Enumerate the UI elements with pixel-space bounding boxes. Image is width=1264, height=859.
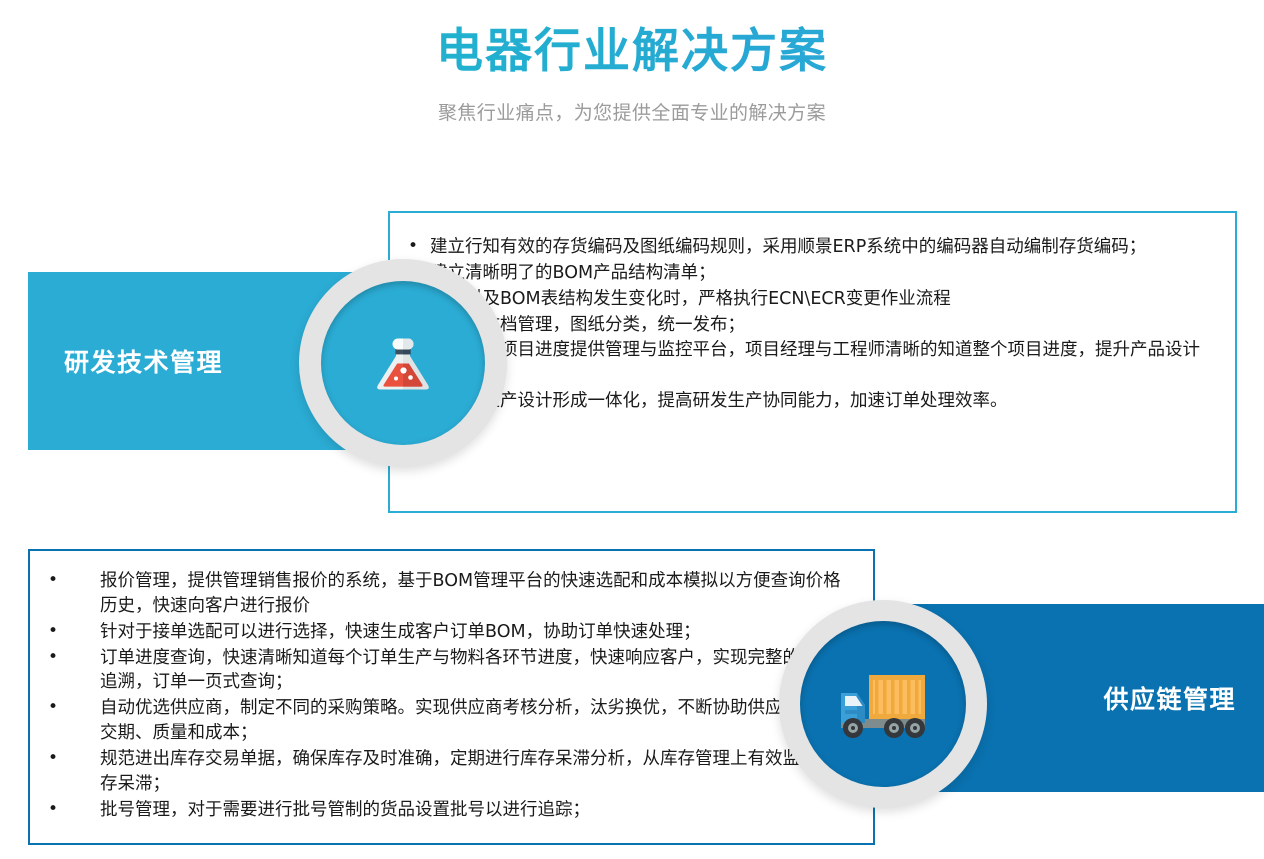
list-item: 研发与生产设计形成一体化，提高研发生产协同能力，加速订单处理效率。 [390, 389, 1215, 414]
list-item: 批号管理，对于需要进行批号管制的货品设置批号以进行追踪； [30, 798, 849, 823]
list-item: 建立行知有效的存货编码及图纸编码规则，采用顺景ERP系统中的编码器自动编制存货编… [390, 235, 1215, 260]
list-item: 规范进出库存交易单据，确保库存及时准确，定期进行库存呆滞分析，从库存管理上有效监… [30, 747, 849, 797]
list-item: 自动优选供应商，制定不同的采购策略。实现供应商考核分析，汰劣换优，不断协助供应商… [30, 696, 849, 746]
sc-bullet-list: 报价管理，提供管理销售报价的系统，基于BOM管理平台的快速选配和成本模拟以方便查… [30, 569, 849, 822]
rd-medallion [299, 259, 507, 467]
sc-medallion [779, 600, 987, 808]
rd-text-box: 建立行知有效的存货编码及图纸编码规则，采用顺景ERP系统中的编码器自动编制存货编… [388, 211, 1237, 513]
page-title: 电器行业解决方案 [0, 0, 1264, 82]
sc-label-text: 供应链管理 [1103, 680, 1236, 716]
sc-medallion-inner [800, 621, 966, 787]
list-item: 针对于接单选配可以进行选择，快速生成客户订单BOM，协助订单快速处理； [30, 620, 849, 645]
list-item: 针对研发项目进度提供管理与监控平台，项目经理与工程师清晰的知道整个项目进度，提升… [390, 338, 1215, 388]
list-item: 订单进度查询，快速清晰知道每个订单生产与物料各环节进度，快速响应客户，实现完整的… [30, 646, 849, 696]
list-item: 提供图文档管理，图纸分类，统一发布； [390, 313, 1215, 338]
page-subtitle: 聚焦行业痛点，为您提供全面专业的解决方案 [0, 82, 1264, 125]
list-item: 报价管理，提供管理销售报价的系统，基于BOM管理平台的快速选配和成本模拟以方便查… [30, 569, 849, 619]
flask-icon [363, 323, 443, 403]
page-header: 电器行业解决方案 聚焦行业痛点，为您提供全面专业的解决方案 [0, 0, 1264, 125]
rd-label-text: 研发技术管理 [64, 343, 223, 379]
truck-icon [831, 665, 935, 743]
list-item: 建立清晰明了的BOM产品结构清单； [390, 261, 1215, 286]
sc-text-box: 报价管理，提供管理销售报价的系统，基于BOM管理平台的快速选配和成本模拟以方便查… [28, 549, 875, 845]
list-item: 当物料及BOM表结构发生变化时，严格执行ECN\ECR变更作业流程 [390, 287, 1215, 312]
rd-bullet-list: 建立行知有效的存货编码及图纸编码规则，采用顺景ERP系统中的编码器自动编制存货编… [390, 235, 1215, 414]
rd-medallion-inner [321, 281, 485, 445]
